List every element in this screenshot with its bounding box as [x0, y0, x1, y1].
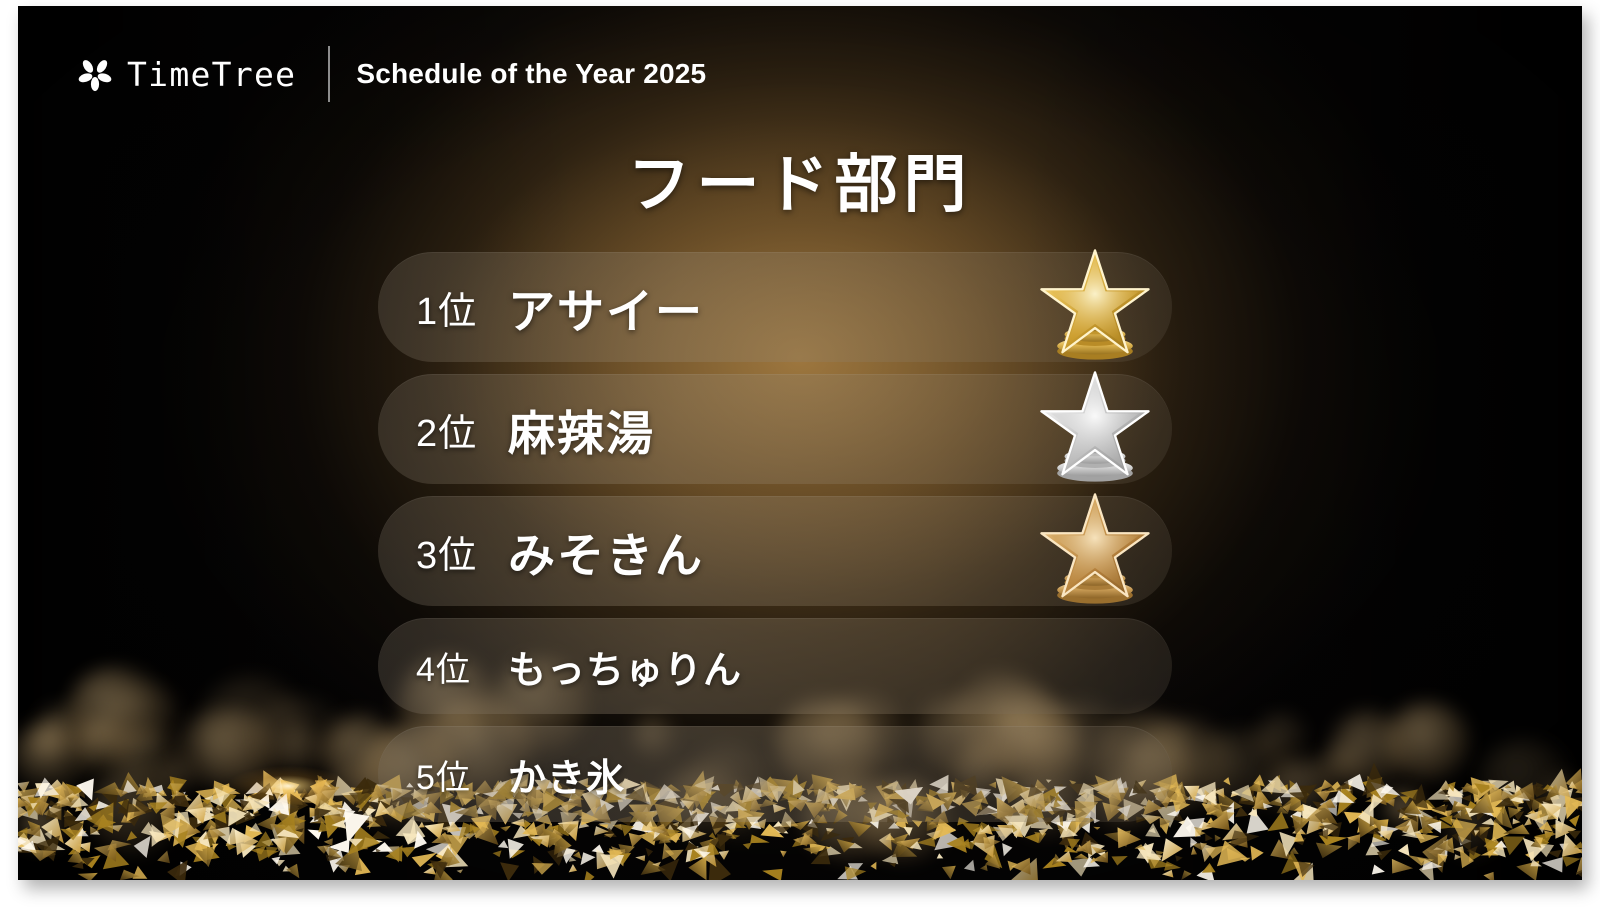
confetti-triangle — [1366, 842, 1383, 855]
confetti-triangle — [1083, 857, 1100, 868]
confetti-triangle — [1371, 782, 1394, 799]
confetti-triangle — [90, 831, 100, 835]
confetti-triangle — [28, 829, 49, 847]
confetti-triangle — [282, 815, 305, 844]
confetti-triangle — [1074, 854, 1089, 859]
confetti-triangle — [1466, 828, 1486, 837]
confetti-triangle — [41, 817, 64, 844]
ranking-row-2[interactable]: 2位 麻辣湯 — [378, 374, 1172, 484]
confetti-triangle — [78, 842, 91, 852]
confetti-triangle — [1501, 781, 1516, 794]
confetti-triangle — [254, 831, 273, 848]
confetti-triangle — [1541, 804, 1562, 821]
confetti-triangle — [1569, 815, 1579, 827]
confetti-triangle — [18, 843, 22, 852]
confetti-triangle — [1316, 843, 1343, 859]
confetti-triangle — [261, 838, 274, 846]
confetti-triangle — [60, 795, 74, 807]
confetti-triangle — [1136, 843, 1162, 861]
confetti-triangle — [1395, 815, 1419, 836]
confetti-triangle — [1347, 834, 1361, 843]
confetti-triangle — [46, 810, 59, 821]
confetti-triangle — [1266, 798, 1282, 807]
confetti-triangle — [129, 804, 146, 819]
confetti-triangle — [1195, 829, 1206, 837]
rank-name: 麻辣湯 — [508, 395, 655, 464]
confetti-triangle — [348, 825, 380, 855]
confetti-triangle — [1194, 795, 1206, 801]
confetti-triangle — [457, 869, 463, 873]
confetti-triangle — [270, 824, 298, 852]
confetti-triangle — [148, 785, 164, 794]
confetti-triangle — [433, 865, 453, 881]
confetti-triangle — [266, 846, 279, 858]
confetti-triangle — [1289, 847, 1299, 854]
ranking-row-3[interactable]: 3位 みそきん — [378, 496, 1172, 606]
confetti-triangle — [1438, 789, 1449, 795]
confetti-triangle — [65, 828, 84, 854]
bokeh-circle — [67, 667, 168, 754]
confetti-triangle — [1266, 783, 1276, 795]
confetti-triangle — [1427, 788, 1450, 799]
confetti-triangle — [170, 776, 187, 800]
confetti-triangle — [1162, 870, 1173, 878]
confetti-triangle — [1340, 786, 1352, 794]
confetti-triangle — [175, 867, 184, 877]
confetti-triangle — [18, 788, 40, 811]
ranking-row-5[interactable]: 5位 かき氷 — [378, 726, 1172, 822]
confetti-triangle — [1539, 813, 1545, 822]
confetti-triangle — [1424, 817, 1431, 822]
confetti-triangle — [163, 815, 181, 838]
confetti-triangle — [118, 798, 141, 814]
confetti-triangle — [334, 776, 358, 796]
confetti-triangle — [1417, 809, 1433, 831]
bokeh-circle — [1444, 798, 1500, 858]
confetti-triangle — [66, 784, 85, 800]
confetti-triangle — [1312, 801, 1327, 811]
confetti-triangle — [1384, 799, 1395, 807]
bokeh-circle — [26, 725, 72, 764]
confetti-triangle — [317, 845, 330, 854]
confetti-triangle — [1445, 786, 1463, 798]
confetti-triangle — [341, 789, 361, 806]
confetti-triangle — [281, 811, 301, 826]
confetti-triangle — [1240, 858, 1251, 862]
confetti-triangle — [1575, 786, 1582, 795]
confetti-triangle — [199, 805, 211, 814]
confetti-triangle — [43, 798, 61, 820]
confetti-triangle — [172, 812, 191, 825]
confetti-triangle — [1458, 836, 1472, 846]
confetti-triangle — [1280, 792, 1302, 812]
confetti-triangle — [1207, 817, 1214, 824]
confetti-triangle — [355, 858, 371, 876]
confetti-triangle — [1534, 843, 1554, 857]
rank-position: 5位 — [416, 750, 508, 799]
confetti-triangle — [1319, 835, 1348, 845]
confetti-triangle — [1011, 858, 1038, 880]
confetti-triangle — [149, 802, 168, 814]
confetti-triangle — [228, 807, 249, 827]
confetti-triangle — [1374, 796, 1387, 805]
confetti-triangle — [1517, 807, 1524, 811]
confetti-triangle — [253, 807, 259, 815]
confetti-triangle — [892, 840, 918, 857]
confetti-triangle — [1402, 820, 1415, 837]
confetti-triangle — [1253, 774, 1265, 786]
confetti-triangle — [1579, 800, 1582, 806]
confetti-triangle — [173, 811, 199, 847]
confetti-triangle — [1568, 831, 1582, 839]
confetti-triangle — [89, 803, 101, 811]
confetti-triangle — [296, 828, 304, 834]
confetti-triangle — [1559, 843, 1568, 851]
confetti-triangle — [800, 833, 817, 845]
confetti-triangle — [1399, 809, 1410, 819]
confetti-triangle — [569, 864, 577, 872]
confetti-triangle — [1087, 841, 1106, 858]
confetti-triangle — [355, 799, 368, 811]
confetti-triangle — [1314, 786, 1323, 796]
confetti-triangle — [1510, 782, 1535, 800]
confetti-triangle — [983, 837, 1000, 849]
confetti-triangle — [251, 783, 275, 800]
confetti-triangle — [329, 847, 342, 861]
confetti-triangle — [1501, 793, 1519, 808]
confetti-triangle — [1471, 777, 1496, 803]
confetti-triangle — [1322, 819, 1339, 839]
confetti-triangle — [493, 850, 502, 857]
confetti-triangle — [149, 831, 175, 843]
confetti-triangle — [1460, 783, 1478, 793]
confetti-triangle — [1064, 846, 1078, 853]
confetti-triangle — [531, 839, 542, 847]
confetti-triangle — [985, 854, 1000, 868]
confetti-triangle — [1558, 786, 1572, 794]
confetti-triangle — [1362, 763, 1385, 797]
confetti-triangle — [102, 788, 119, 808]
confetti-triangle — [1290, 809, 1301, 825]
confetti-triangle — [103, 845, 129, 869]
confetti-triangle — [273, 808, 300, 830]
confetti-triangle — [1487, 806, 1502, 818]
confetti-triangle — [1481, 818, 1496, 825]
confetti-triangle — [337, 865, 350, 872]
confetti-triangle — [1365, 823, 1389, 836]
confetti-triangle — [165, 832, 173, 842]
confetti-triangle — [320, 779, 332, 789]
confetti-triangle — [385, 845, 402, 861]
confetti-triangle — [1298, 861, 1315, 877]
confetti-triangle — [1042, 858, 1066, 869]
ranking-row-4[interactable]: 4位 もっちゅりん — [378, 618, 1172, 714]
confetti-triangle — [1293, 863, 1314, 880]
confetti-triangle — [629, 833, 644, 847]
bokeh-circle — [1317, 746, 1365, 785]
confetti-triangle — [1173, 816, 1201, 837]
confetti-triangle — [163, 816, 176, 827]
confetti-triangle — [358, 801, 374, 812]
bokeh-circle — [1267, 758, 1339, 814]
confetti-triangle — [1206, 812, 1230, 831]
confetti-triangle — [86, 802, 114, 833]
confetti-triangle — [268, 793, 289, 815]
confetti-triangle — [1247, 781, 1262, 793]
confetti-triangle — [557, 847, 579, 858]
confetti-triangle — [1194, 827, 1203, 836]
confetti-triangle — [1156, 851, 1165, 857]
confetti-triangle — [115, 788, 128, 797]
confetti-triangle — [68, 849, 85, 864]
confetti-triangle — [361, 807, 376, 816]
confetti-triangle — [234, 809, 248, 818]
confetti-triangle — [318, 775, 339, 796]
confetti-triangle — [1341, 787, 1352, 796]
confetti-triangle — [1250, 796, 1261, 804]
confetti-triangle — [1422, 835, 1447, 873]
confetti-triangle — [1415, 833, 1439, 843]
confetti-triangle — [45, 830, 53, 840]
confetti-triangle — [530, 835, 550, 847]
page-title: フード部門 — [18, 134, 1582, 225]
confetti-triangle — [67, 795, 76, 803]
confetti-triangle — [1571, 801, 1578, 810]
confetti-triangle — [916, 837, 935, 847]
confetti-triangle — [1293, 862, 1311, 880]
award-slide: TimeTree Schedule of the Year 2025 フード部門… — [18, 6, 1582, 880]
confetti-triangle — [195, 788, 218, 801]
confetti-triangle — [1440, 815, 1453, 825]
confetti-triangle — [1493, 843, 1506, 858]
confetti-triangle — [90, 826, 99, 834]
confetti-triangle — [1324, 828, 1334, 837]
rank-name: かき氷 — [508, 747, 625, 802]
confetti-triangle — [212, 805, 237, 814]
confetti-triangle — [45, 843, 66, 851]
confetti-triangle — [1422, 859, 1443, 870]
confetti-triangle — [108, 813, 114, 817]
rank-position: 1位 — [416, 280, 508, 335]
confetti-triangle — [1214, 812, 1235, 826]
bokeh-circle — [73, 717, 132, 771]
confetti-triangle — [39, 799, 49, 816]
bokeh-circle — [1384, 790, 1424, 828]
confetti-triangle — [1317, 789, 1332, 801]
confetti-triangle — [436, 843, 451, 864]
confetti-triangle — [1369, 794, 1383, 813]
confetti-triangle — [1403, 800, 1422, 814]
confetti-triangle — [1247, 808, 1269, 833]
confetti-triangle — [41, 785, 67, 801]
confetti-triangle — [1184, 786, 1200, 802]
confetti-triangle — [1516, 861, 1539, 880]
confetti-triangle — [27, 796, 45, 815]
confetti-triangle — [271, 837, 286, 853]
header-divider — [328, 46, 330, 102]
confetti-triangle — [236, 808, 256, 826]
confetti-triangle — [193, 839, 219, 862]
confetti-triangle — [607, 849, 625, 866]
confetti-triangle — [157, 851, 170, 864]
confetti-triangle — [1530, 859, 1542, 866]
confetti-triangle — [384, 846, 400, 862]
confetti-triangle — [20, 807, 38, 820]
confetti-triangle — [403, 833, 420, 844]
confetti-triangle — [1194, 782, 1217, 806]
confetti-triangle — [275, 813, 296, 834]
confetti-triangle — [897, 843, 909, 857]
confetti-triangle — [618, 844, 634, 858]
confetti-triangle — [64, 819, 84, 836]
confetti-triangle — [1492, 820, 1509, 841]
confetti-triangle — [1270, 839, 1293, 860]
rank-position: 2位 — [416, 402, 508, 457]
confetti-triangle — [947, 836, 967, 853]
confetti-triangle — [1452, 827, 1472, 852]
confetti-triangle — [1138, 843, 1154, 864]
confetti-triangle — [819, 846, 842, 856]
confetti-triangle — [203, 819, 221, 830]
confetti-triangle — [118, 807, 145, 826]
confetti-triangle — [1425, 816, 1439, 824]
confetti-triangle — [1438, 854, 1447, 866]
confetti-triangle — [1214, 788, 1225, 798]
confetti-triangle — [1547, 769, 1571, 798]
confetti-triangle — [184, 817, 212, 830]
confetti-triangle — [1542, 857, 1563, 872]
confetti-triangle — [1377, 849, 1392, 860]
confetti-triangle — [19, 826, 40, 837]
confetti-triangle — [204, 791, 225, 806]
confetti-triangle — [1185, 788, 1207, 802]
confetti-triangle — [1524, 817, 1532, 825]
confetti-triangle — [1252, 799, 1267, 810]
confetti-triangle — [1502, 836, 1525, 855]
confetti-triangle — [212, 844, 219, 850]
confetti-triangle — [212, 827, 230, 845]
confetti-triangle — [1251, 846, 1264, 861]
bokeh-circle — [157, 759, 195, 794]
confetti-triangle — [1531, 798, 1544, 812]
bokeh-circle — [89, 764, 179, 854]
confetti-triangle — [226, 843, 237, 850]
confetti-triangle — [1292, 826, 1306, 834]
confetti-triangle — [315, 780, 335, 792]
confetti-triangle — [347, 839, 363, 847]
confetti-triangle — [1443, 794, 1457, 802]
confetti-triangle — [1493, 806, 1512, 829]
confetti-triangle — [652, 833, 671, 842]
confetti-triangle — [1275, 796, 1283, 803]
brand-logo[interactable]: TimeTree — [76, 55, 296, 93]
confetti-triangle — [1052, 854, 1061, 866]
confetti-triangle — [1295, 816, 1302, 821]
confetti-triangle — [1451, 801, 1472, 814]
confetti-triangle — [92, 814, 112, 827]
confetti-triangle — [871, 862, 877, 870]
confetti-triangle — [1146, 856, 1173, 869]
bokeh-circle — [1331, 711, 1405, 791]
confetti-triangle — [244, 825, 262, 843]
confetti-triangle — [66, 821, 84, 840]
confetti-triangle — [310, 786, 339, 806]
confetti-triangle — [699, 851, 711, 858]
confetti-triangle — [1432, 805, 1449, 813]
confetti-triangle — [732, 834, 740, 839]
confetti-triangle — [1566, 768, 1582, 793]
ranking-list: 1位 アサイー — [378, 252, 1172, 834]
confetti-triangle — [1533, 793, 1561, 815]
confetti-triangle — [81, 797, 103, 827]
rank-name: アサイー — [508, 273, 704, 342]
confetti-triangle — [1547, 850, 1562, 858]
confetti-triangle — [1447, 782, 1456, 792]
confetti-triangle — [1336, 801, 1356, 814]
confetti-triangle — [1479, 788, 1503, 824]
bokeh-circle — [250, 696, 346, 773]
confetti-triangle — [247, 791, 261, 803]
confetti-triangle — [1205, 845, 1230, 859]
confetti-triangle — [245, 782, 268, 794]
confetti-triangle — [1078, 840, 1093, 855]
confetti-triangle — [263, 770, 282, 794]
confetti-triangle — [1248, 807, 1257, 817]
confetti-triangle — [1222, 823, 1247, 840]
confetti-triangle — [1543, 784, 1556, 789]
confetti-triangle — [1092, 852, 1108, 863]
confetti-triangle — [245, 810, 255, 821]
confetti-triangle — [289, 790, 303, 805]
bronze-star-trophy-icon — [1032, 486, 1158, 612]
confetti-triangle — [49, 779, 67, 790]
confetti-triangle — [1025, 833, 1040, 844]
confetti-triangle — [1306, 811, 1325, 834]
bokeh-circle — [198, 676, 306, 780]
confetti-triangle — [330, 808, 342, 815]
confetti-triangle — [1372, 831, 1387, 842]
confetti-triangle — [97, 819, 117, 831]
confetti-triangle — [1417, 804, 1429, 813]
confetti-triangle — [1438, 854, 1448, 863]
confetti-triangle — [141, 822, 157, 837]
confetti-triangle — [265, 786, 276, 795]
confetti-triangle — [652, 862, 661, 867]
ranking-row-1[interactable]: 1位 アサイー — [378, 252, 1172, 362]
confetti-triangle — [1476, 797, 1491, 814]
confetti-triangle — [1550, 788, 1573, 826]
confetti-triangle — [1277, 806, 1289, 813]
confetti-triangle — [533, 856, 545, 874]
confetti-triangle — [1469, 792, 1494, 813]
confetti-triangle — [1090, 858, 1098, 864]
confetti-triangle — [1576, 857, 1582, 875]
confetti-triangle — [937, 853, 944, 858]
confetti-triangle — [131, 798, 149, 813]
confetti-triangle — [1318, 822, 1326, 829]
confetti-triangle — [803, 846, 822, 855]
confetti-triangle — [1325, 781, 1344, 793]
confetti-triangle — [583, 871, 594, 880]
confetti-triangle — [1461, 784, 1479, 797]
confetti-triangle — [42, 842, 55, 858]
confetti-triangle — [20, 841, 37, 853]
confetti-triangle — [29, 850, 56, 862]
confetti-triangle — [344, 812, 369, 844]
confetti-triangle — [1545, 785, 1560, 801]
confetti-triangle — [286, 793, 306, 805]
confetti-triangle — [252, 811, 262, 818]
